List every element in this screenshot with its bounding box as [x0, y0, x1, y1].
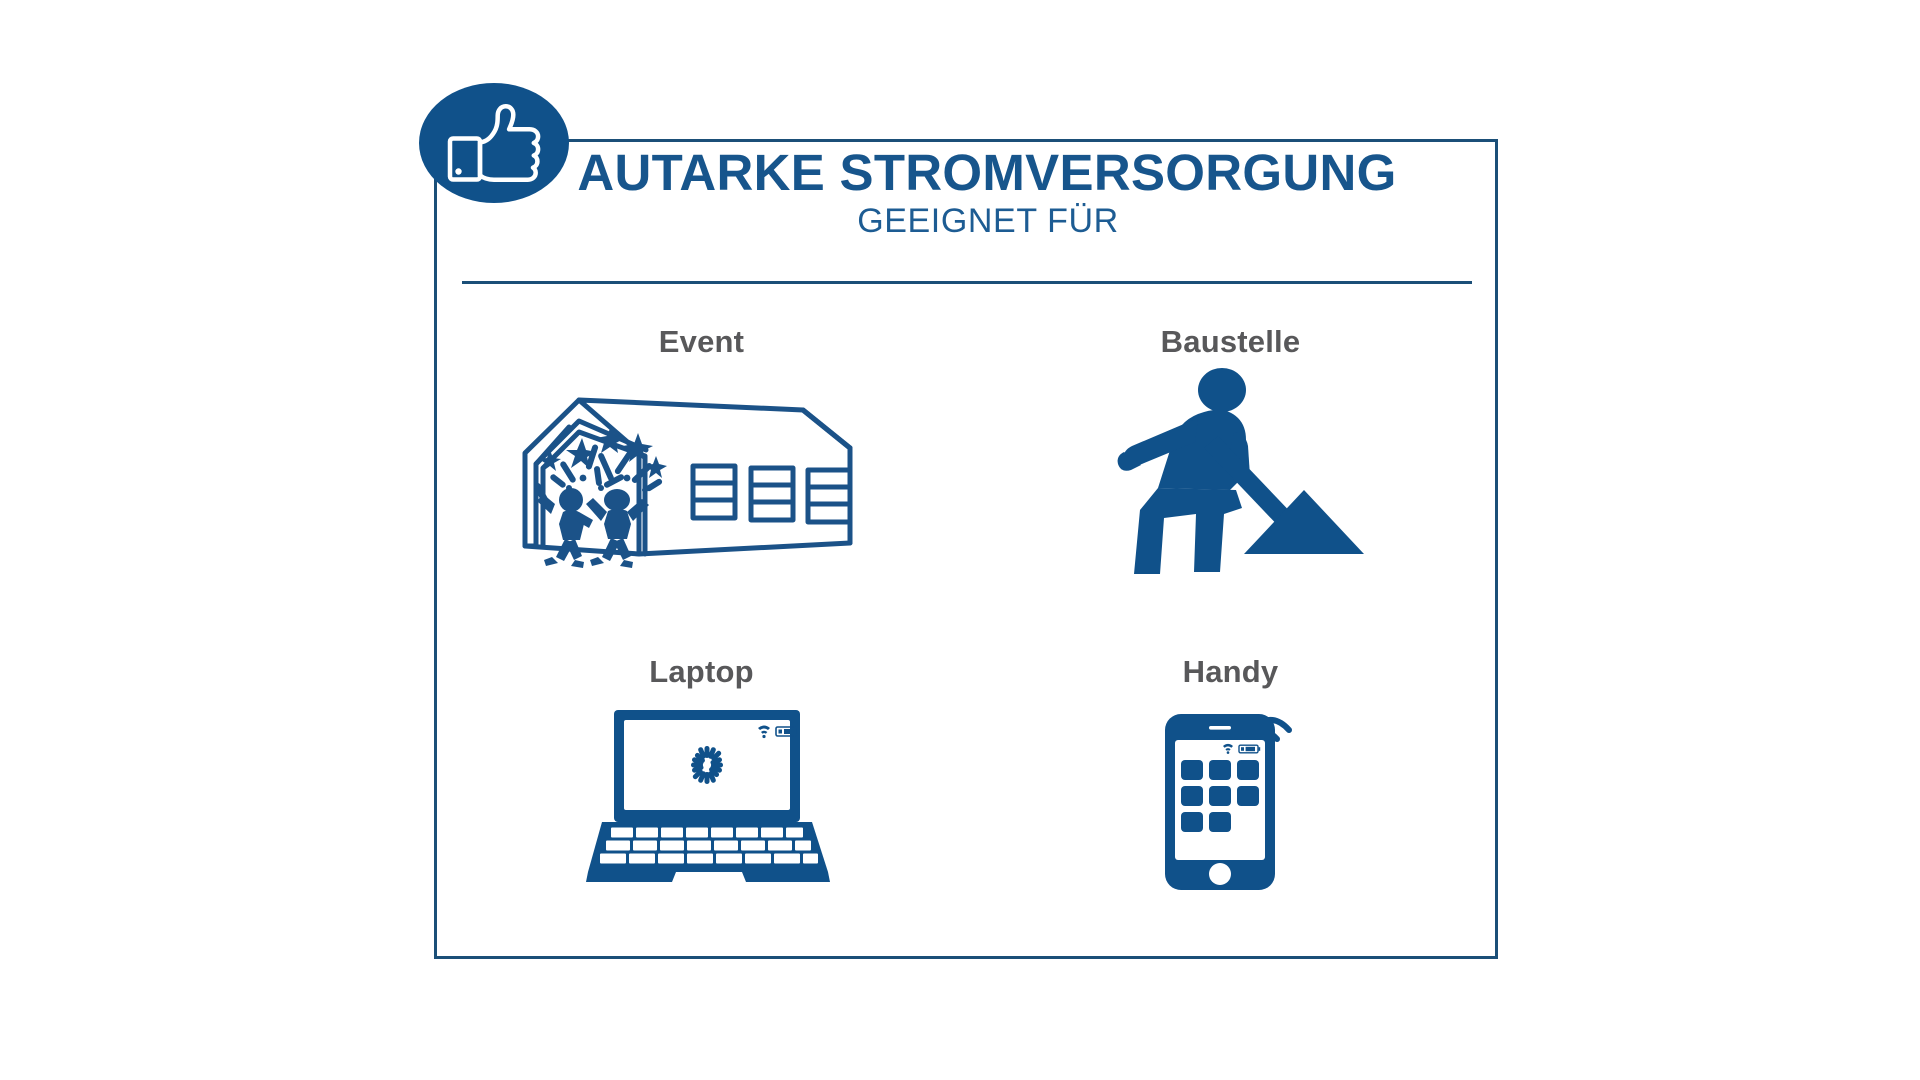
category-label-laptop: Laptop — [649, 654, 754, 690]
header-divider — [462, 281, 1472, 284]
category-event: Event — [437, 300, 966, 630]
infographic-canvas: AUTARKE STROMVERSORGUNG GEEIGNET FÜR Eve… — [0, 0, 1920, 1080]
mobile-phone-icon — [1151, 696, 1327, 892]
laptop-illustration — [580, 706, 832, 886]
party-tent-icon — [503, 378, 895, 568]
party-tent-illustration — [503, 378, 895, 568]
category-handy: Handy — [966, 630, 1495, 956]
mobile-phone-illustration — [1151, 696, 1327, 892]
category-laptop: Laptop — [437, 630, 966, 956]
thumbs-up-badge — [418, 82, 570, 204]
home-button — [1209, 863, 1231, 885]
trackpad — [672, 872, 746, 882]
thumbs-up-icon — [418, 82, 570, 204]
category-grid: Event — [437, 300, 1495, 956]
speaker-slit — [1209, 726, 1231, 730]
construction-worker-illustration — [1102, 366, 1370, 578]
laptop-icon — [580, 706, 832, 886]
category-label-event: Event — [659, 324, 744, 360]
category-baustelle: Baustelle — [966, 300, 1495, 630]
category-label-baustelle: Baustelle — [1161, 324, 1301, 360]
construction-worker-icon — [1102, 366, 1370, 578]
category-label-handy: Handy — [1183, 654, 1279, 690]
phone-status-icons — [1223, 744, 1260, 754]
